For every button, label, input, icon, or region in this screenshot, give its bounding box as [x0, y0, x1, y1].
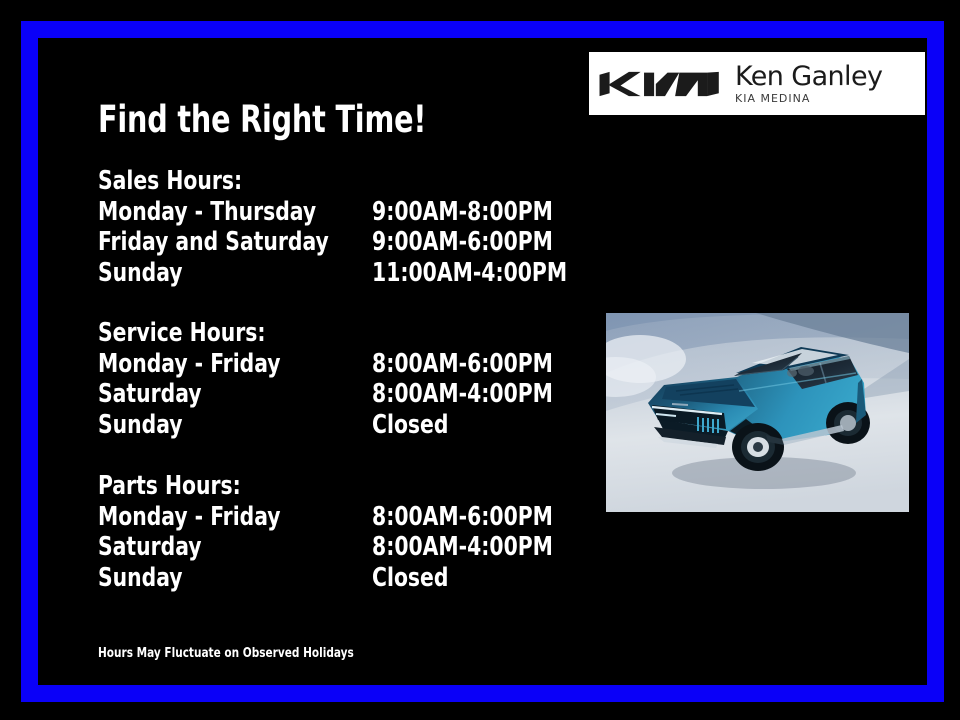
dealer-subtitle: KIA MEDINA: [735, 93, 882, 104]
hours-row: Sunday11:00AM-4:00PM: [98, 258, 567, 289]
hours-row-time: 9:00AM-8:00PM: [372, 197, 553, 228]
hours-row: Monday - Thursday9:00AM-8:00PM: [98, 197, 567, 228]
page-title: Find the Right Time!: [98, 98, 426, 141]
hours-row-day: Sunday: [98, 258, 372, 289]
holiday-disclaimer: Hours May Fluctuate on Observed Holidays: [98, 646, 354, 661]
hours-row-day: Monday - Friday: [98, 349, 372, 380]
hours-section-parts: Parts Hours: Monday - Friday8:00AM-6:00P…: [98, 471, 621, 593]
slide-canvas: Find the Right Time! Sales Hours: Monday…: [0, 0, 960, 720]
hours-section-sales: Sales Hours: Monday - Thursday9:00AM-8:0…: [98, 166, 637, 288]
hours-row: Saturday8:00AM-4:00PM: [98, 532, 553, 563]
hours-row-day: Monday - Thursday: [98, 197, 372, 228]
dealer-name: Ken Ganley: [735, 63, 882, 90]
hours-row-time: 8:00AM-6:00PM: [372, 502, 553, 533]
hours-row: SundayClosed: [98, 410, 553, 441]
hours-row-time: 9:00AM-6:00PM: [372, 227, 553, 258]
hours-row: Friday and Saturday9:00AM-6:00PM: [98, 227, 567, 258]
hours-row-time: Closed: [372, 410, 448, 441]
hours-row-day: Sunday: [98, 563, 372, 594]
hours-row-time: 11:00AM-4:00PM: [372, 258, 567, 289]
blue-border-frame: Find the Right Time! Sales Hours: Monday…: [21, 21, 944, 702]
dealer-name-block: Ken Ganley KIA MEDINA: [735, 63, 882, 104]
hours-row-time: 8:00AM-4:00PM: [372, 532, 553, 563]
slide-content-area: Find the Right Time! Sales Hours: Monday…: [38, 38, 927, 685]
hours-row-day: Monday - Friday: [98, 502, 372, 533]
hours-row-day: Friday and Saturday: [98, 227, 372, 258]
hours-row-time: 8:00AM-4:00PM: [372, 379, 553, 410]
hours-row: Saturday8:00AM-4:00PM: [98, 379, 553, 410]
hours-row-day: Saturday: [98, 532, 372, 563]
hours-row: Monday - Friday8:00AM-6:00PM: [98, 502, 553, 533]
hours-row-day: Saturday: [98, 379, 372, 410]
hours-row: Monday - Friday8:00AM-6:00PM: [98, 349, 553, 380]
hours-row-time: Closed: [372, 563, 448, 594]
dealer-logo-card: Ken Ganley KIA MEDINA: [589, 52, 925, 115]
hours-section-heading: Parts Hours:: [98, 471, 553, 502]
hours-row-day: Sunday: [98, 410, 372, 441]
kia-ev9-suv-photo: [606, 313, 909, 512]
vehicle-illustration: [606, 313, 909, 512]
hours-section-heading: Sales Hours:: [98, 166, 567, 197]
hours-section-heading: Service Hours:: [98, 318, 553, 349]
hours-row: SundayClosed: [98, 563, 553, 594]
hours-row-time: 8:00AM-6:00PM: [372, 349, 553, 380]
kia-logo-icon: [597, 67, 723, 101]
hours-section-service: Service Hours: Monday - Friday8:00AM-6:0…: [98, 318, 621, 440]
